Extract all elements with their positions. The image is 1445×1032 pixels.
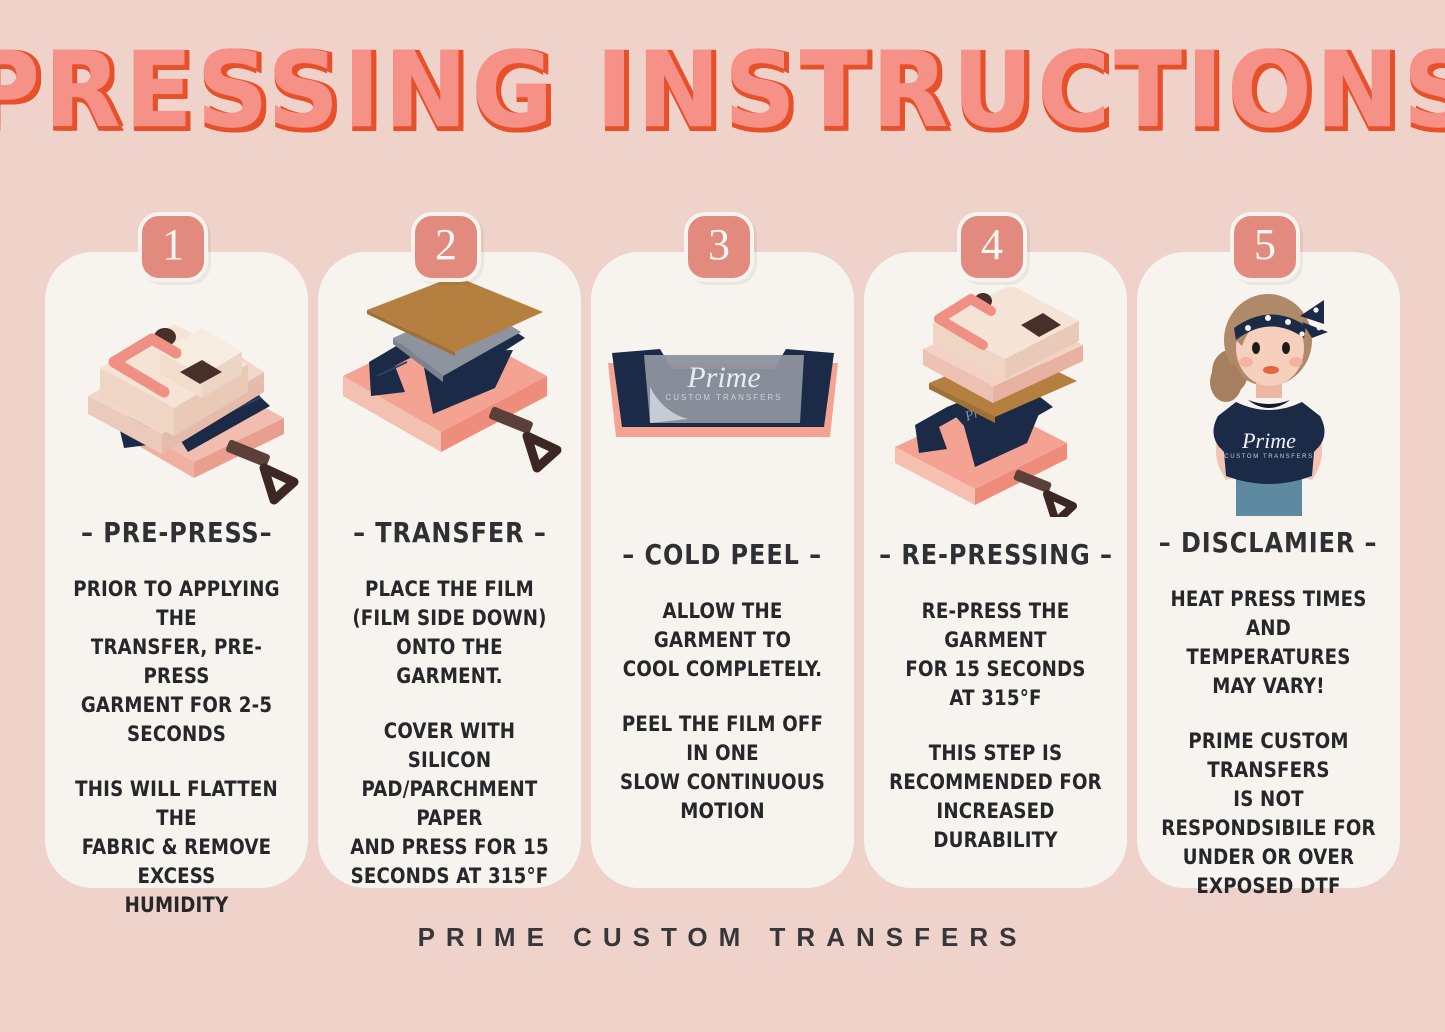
step-heading-4: – RE-PRESSING –	[879, 538, 1113, 571]
step-number-badge-4: 4	[957, 212, 1027, 282]
step-number-2: 2	[435, 223, 457, 267]
step-paragraph: PLACE THE FILM (FILM SIDE DOWN) ONTO THE…	[341, 575, 558, 691]
step-card-3: 3 Prime CUSTOM TRANSFERS – COLD PEEL	[591, 252, 854, 888]
step-body-4: RE-PRESS THE GARMENT FOR 15 SECONDS AT 3…	[864, 597, 1127, 855]
svg-text:Prim: Prim	[962, 401, 994, 425]
svg-text:CUSTOM TRANSFERS: CUSTOM TRANSFERS	[665, 393, 782, 402]
step-number-badge-2: 2	[411, 212, 481, 282]
step-paragraph: PRIME CUSTOM TRANSFERS IS NOT RESPONDSIB…	[1160, 727, 1377, 901]
step-number-badge-3: 3	[684, 212, 754, 282]
steps-row: 1	[45, 252, 1400, 888]
step-number-3: 3	[708, 223, 730, 267]
step-heading-2: – TRANSFER –	[353, 516, 547, 549]
illustration-woman-wearing-shirt: Prime CUSTOM TRANSFERS	[1137, 276, 1400, 516]
illustration-heat-press-closed	[45, 276, 308, 506]
step-paragraph: PRIOR TO APPLYING THE TRANSFER, PRE-PRES…	[68, 575, 285, 749]
infographic-page: PRESSING INSTRUCTIONS 1	[0, 0, 1445, 1032]
illustration-exploded-press-stack: Prim	[864, 276, 1127, 528]
step-body-2: PLACE THE FILM (FILM SIDE DOWN) ONTO THE…	[318, 575, 581, 891]
step-heading-3: – COLD PEEL –	[623, 538, 823, 571]
step-number-5: 5	[1254, 223, 1276, 267]
step-heading-5: – DISCLAMIER –	[1159, 526, 1378, 559]
footer-brand: PRIME CUSTOM TRANSFERS	[0, 922, 1445, 953]
step-paragraph: RE-PRESS THE GARMENT FOR 15 SECONDS AT 3…	[887, 597, 1104, 713]
illustration-parchment-over-garment: Prim	[318, 276, 581, 506]
step-paragraph: THIS STEP IS RECOMMENDED FOR INCREASED D…	[887, 739, 1104, 855]
step-number-1: 1	[162, 223, 184, 267]
step-body-5: HEAT PRESS TIMES AND TEMPERATURES MAY VA…	[1137, 585, 1400, 901]
step-number-badge-1: 1	[138, 212, 208, 282]
page-title: PRESSING INSTRUCTIONS	[0, 38, 1445, 142]
step-paragraph: PEEL THE FILM OFF IN ONE SLOW CONTINUOUS…	[614, 710, 831, 826]
step-card-4: 4 Prim	[864, 252, 1127, 888]
step-paragraph: HEAT PRESS TIMES AND TEMPERATURES MAY VA…	[1160, 585, 1377, 701]
step-heading-1: – PRE-PRESS–	[81, 516, 272, 549]
step-card-5: 5	[1137, 252, 1400, 888]
step-number-4: 4	[981, 223, 1003, 267]
svg-text:Prim: Prim	[422, 315, 459, 343]
svg-text:Prime: Prime	[1241, 428, 1296, 453]
step-body-1: PRIOR TO APPLYING THE TRANSFER, PRE-PRES…	[45, 575, 308, 920]
step-card-2: 2 Prim	[318, 252, 581, 888]
svg-text:Prime: Prime	[686, 361, 760, 394]
step-body-3: ALLOW THE GARMENT TO COOL COMPLETELY. PE…	[591, 597, 854, 826]
step-card-1: 1	[45, 252, 308, 888]
svg-text:CUSTOM TRANSFERS: CUSTOM TRANSFERS	[1224, 454, 1313, 460]
step-paragraph: COVER WITH SILICON PAD/PARCHMENT PAPER A…	[341, 717, 558, 891]
title-container: PRESSING INSTRUCTIONS	[0, 38, 1445, 142]
illustration-shirt-film-peeling: Prime CUSTOM TRANSFERS	[591, 276, 854, 528]
step-number-badge-5: 5	[1230, 212, 1300, 282]
step-paragraph: THIS WILL FLATTEN THE FABRIC & REMOVE EX…	[68, 775, 285, 920]
step-paragraph: ALLOW THE GARMENT TO COOL COMPLETELY.	[614, 597, 831, 684]
